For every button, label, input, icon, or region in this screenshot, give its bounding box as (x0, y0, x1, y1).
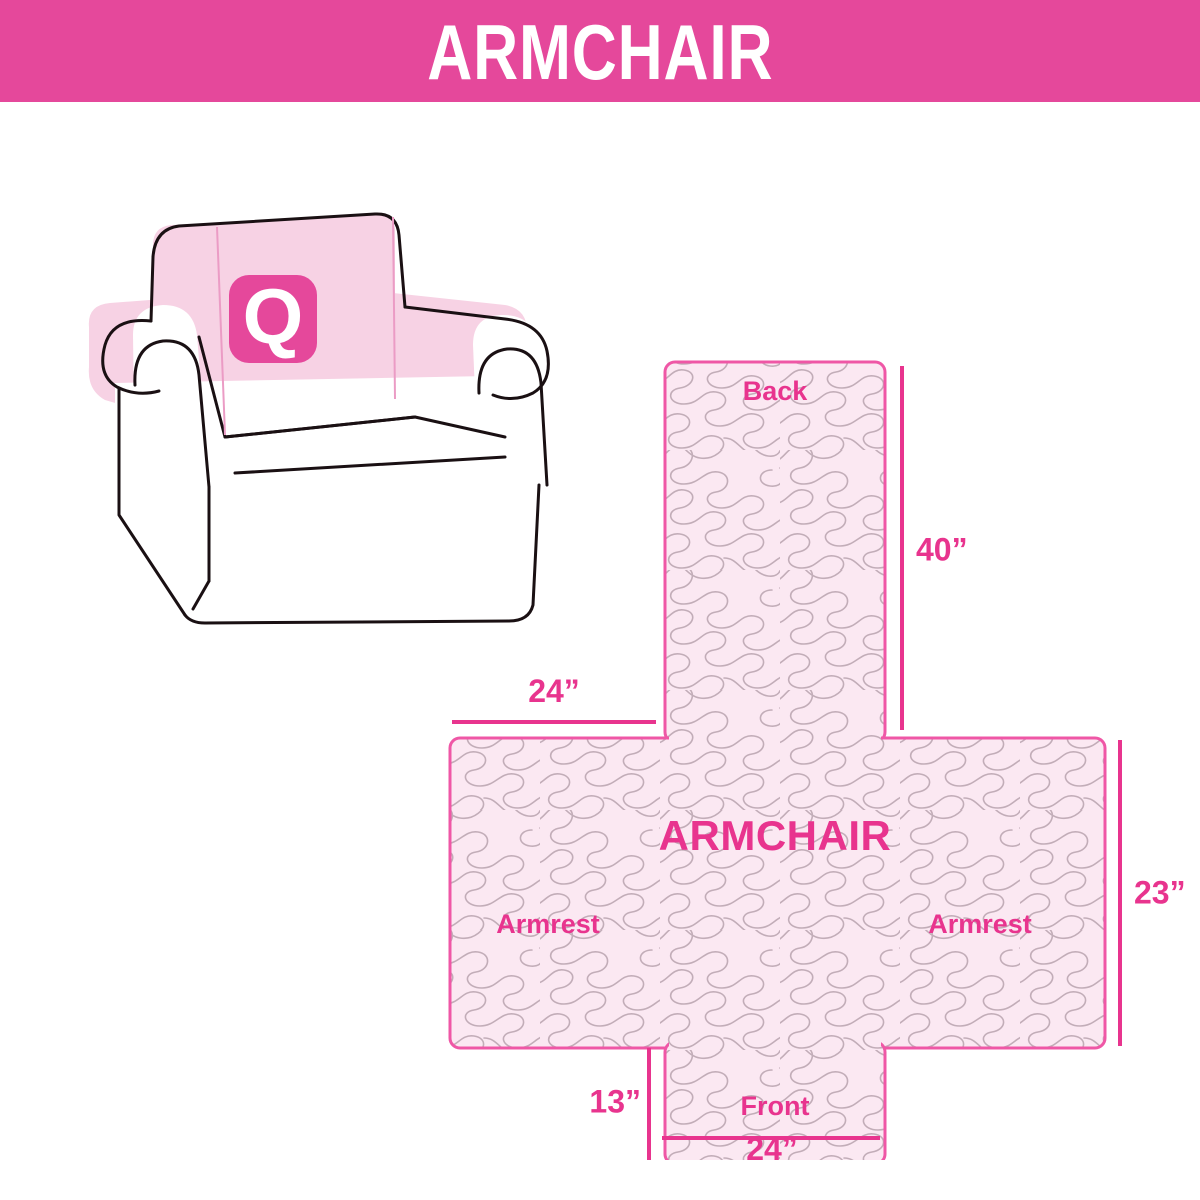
dimension-label-body-height: 23” (1134, 874, 1186, 910)
armchair-cover-dimension-diagram: Back Armrest Armrest Front ARMCHAIR 40” … (420, 330, 1200, 1160)
header-banner: ARMCHAIR (0, 0, 1200, 102)
seam-mask-top (669, 734, 881, 746)
dimension-label-armrest-width: 24” (528, 673, 580, 709)
dimension-label-back-height: 40” (916, 531, 968, 567)
brand-logo-letter: Q (243, 272, 304, 360)
page-title: ARMCHAIR (427, 13, 773, 91)
cover-shape-group (450, 362, 1105, 1160)
dimension-diagram-svg: Back Armrest Armrest Front ARMCHAIR 40” … (420, 330, 1200, 1160)
seam-mask-bottom (669, 1040, 881, 1052)
panel-label-armrest-right: Armrest (928, 909, 1032, 939)
panel-body (450, 738, 1105, 1048)
panel-label-front: Front (741, 1091, 810, 1121)
brand-logo: Q (229, 272, 317, 363)
center-label-armchair: ARMCHAIR (659, 812, 892, 859)
chair-back-left-outline (151, 257, 153, 321)
panel-label-armrest-left: Armrest (496, 909, 600, 939)
panel-back (665, 362, 885, 742)
panel-label-back: Back (743, 376, 809, 406)
dimension-label-front-width: 24” (746, 1131, 798, 1160)
dimension-label-front-height: 13” (589, 1083, 641, 1119)
